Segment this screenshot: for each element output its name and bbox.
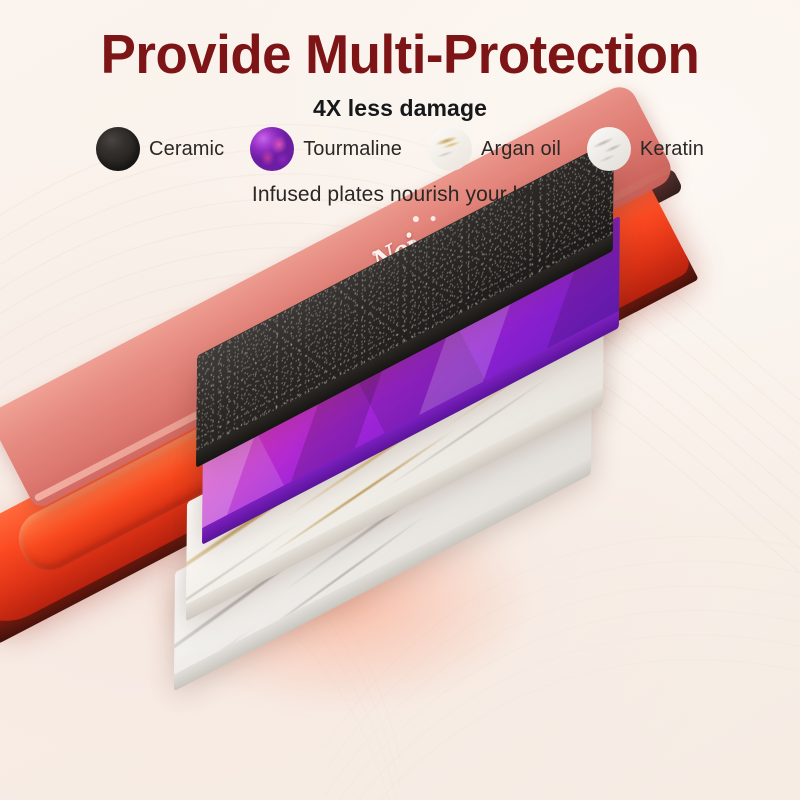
ingredient-label: Tourmaline <box>303 138 402 161</box>
header-block: Provide Multi-Protection 4X less damage <box>0 26 800 122</box>
tourmaline-sphere-icon <box>250 127 294 171</box>
keratin-sphere-icon <box>587 127 631 171</box>
ingredient-badge-argan-oil: Argan oil <box>428 127 561 171</box>
ingredient-label: Ceramic <box>149 138 224 161</box>
ingredient-badge-keratin: Keratin <box>587 127 704 171</box>
ingredient-badge-list: Ceramic Tourmaline Argan oil Keratin <box>0 127 800 171</box>
ingredient-badge-ceramic: Ceramic <box>96 127 224 171</box>
ingredient-badge-tourmaline: Tourmaline <box>250 127 402 171</box>
page-subtitle: 4X less damage <box>0 95 800 122</box>
tagline: Infused plates nourish your hair <box>0 183 800 207</box>
page-title: Provide Multi-Protection <box>16 26 784 83</box>
ingredient-label: Keratin <box>640 138 704 161</box>
product-marketing-poster: Provide Multi-Protection 4X less damage … <box>0 0 800 800</box>
ingredient-label: Argan oil <box>481 138 561 161</box>
argan-oil-sphere-icon <box>428 127 472 171</box>
ceramic-sphere-icon <box>96 127 140 171</box>
